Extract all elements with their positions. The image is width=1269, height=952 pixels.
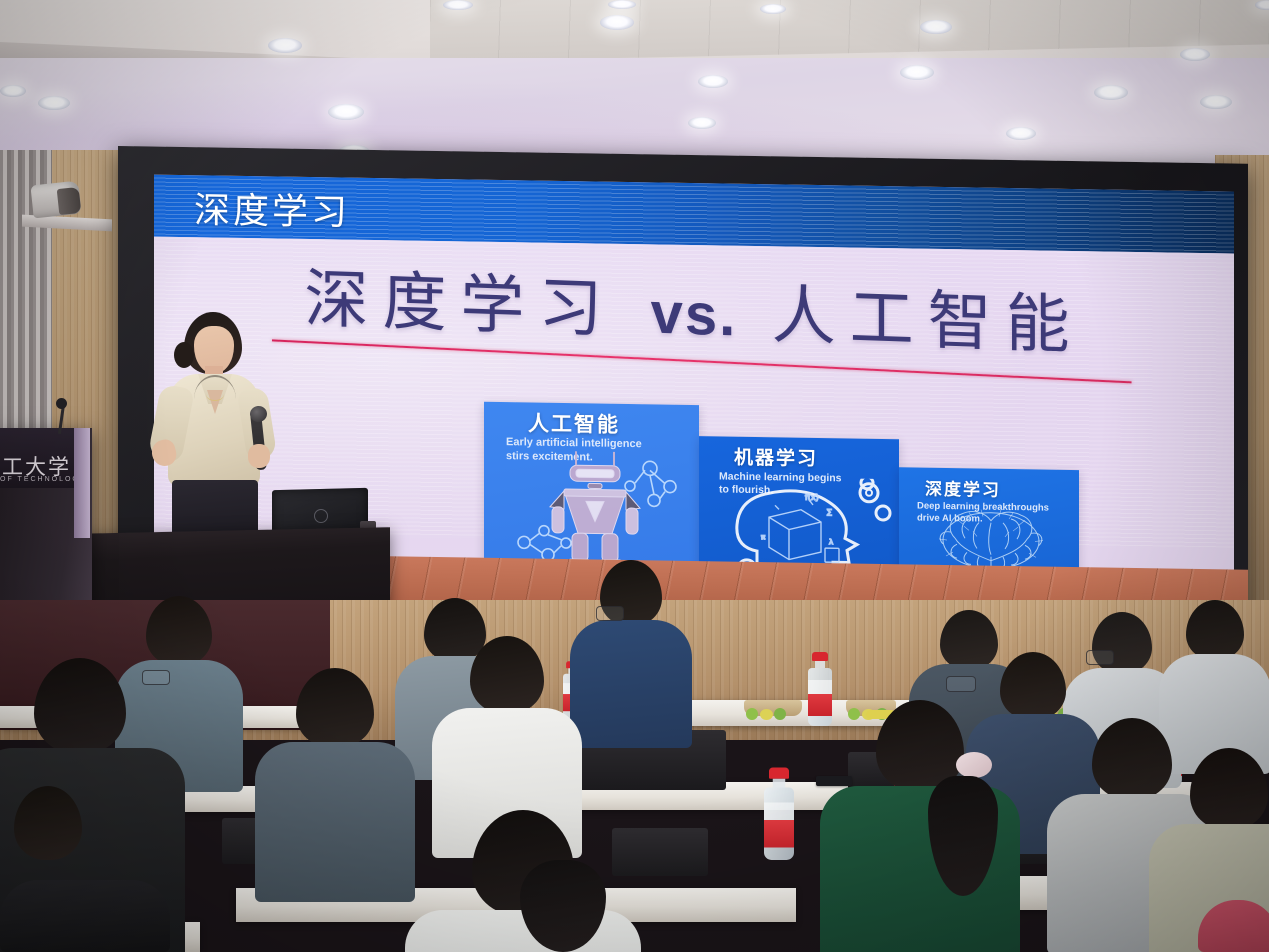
dell-logo-icon bbox=[314, 509, 328, 523]
bottle-body bbox=[764, 788, 794, 861]
fruit-green bbox=[848, 708, 860, 720]
panel-ai-title: 人工智能 bbox=[528, 407, 620, 438]
podium-microphone-head-icon bbox=[56, 398, 67, 409]
downlight-icon bbox=[688, 117, 716, 129]
bottle-neck bbox=[815, 661, 825, 668]
downlight-icon bbox=[0, 85, 26, 97]
svg-text:∑: ∑ bbox=[827, 508, 832, 516]
bottle-cap bbox=[812, 652, 828, 661]
downlight-icon bbox=[698, 75, 728, 88]
panel-dl-title: 深度学习 bbox=[925, 475, 1001, 501]
bottle-label bbox=[764, 820, 794, 848]
downlight-icon bbox=[268, 38, 302, 53]
panel-ml-title: 机器学习 bbox=[734, 443, 818, 471]
svg-text:f(x): f(x) bbox=[805, 493, 819, 502]
bottle-label-upper bbox=[764, 803, 794, 821]
downlight-icon bbox=[1006, 127, 1036, 140]
audience-body bbox=[0, 880, 170, 952]
svg-text:π: π bbox=[761, 533, 766, 541]
audience-body bbox=[255, 742, 415, 902]
audience-chair-back bbox=[612, 828, 708, 876]
downlight-icon bbox=[1180, 48, 1210, 61]
water-bottle bbox=[808, 652, 832, 726]
audience-head bbox=[1186, 600, 1244, 660]
bottle-cap bbox=[769, 768, 789, 779]
downlight-icon bbox=[760, 4, 786, 14]
presenter-hair-bun bbox=[174, 342, 194, 368]
presenter bbox=[150, 312, 280, 560]
downlight-icon bbox=[1094, 85, 1128, 100]
smartphone bbox=[816, 776, 852, 786]
downlight-icon bbox=[600, 15, 634, 30]
fruit-green bbox=[746, 708, 758, 720]
audience-head bbox=[940, 610, 998, 670]
downlight-icon bbox=[920, 20, 952, 34]
downlight-icon bbox=[900, 65, 934, 80]
water-bottle bbox=[764, 768, 794, 861]
bottle-label bbox=[808, 694, 832, 716]
eyeglasses-icon bbox=[946, 676, 976, 692]
downlight-icon bbox=[38, 96, 70, 110]
svg-text:λ: λ bbox=[829, 538, 833, 546]
eyeglasses-icon bbox=[596, 606, 624, 621]
fruit-yellow bbox=[760, 709, 773, 720]
lectern-side-edge bbox=[74, 428, 90, 538]
lecture-hall-photo: 深度学习 深度学习 vs. 人工智能 人工智能 Early artificial… bbox=[0, 0, 1269, 952]
eyeglasses-icon bbox=[142, 670, 170, 685]
wall-speaker-cone-icon bbox=[57, 187, 82, 215]
downlight-icon bbox=[328, 104, 364, 120]
downlight-icon bbox=[1200, 95, 1232, 109]
hair-scrunchie bbox=[956, 752, 992, 778]
bottle-neck bbox=[773, 779, 786, 788]
bottle-body bbox=[808, 668, 832, 726]
downlight-icon bbox=[608, 0, 636, 9]
presenter-right-hand bbox=[248, 444, 270, 468]
eyeglasses-icon bbox=[1086, 650, 1114, 665]
audience-body bbox=[570, 620, 692, 748]
downlight-icon bbox=[443, 0, 473, 10]
presenter-necklace bbox=[206, 388, 224, 401]
fruit-green bbox=[774, 708, 786, 720]
bottle-label-upper bbox=[808, 680, 832, 694]
